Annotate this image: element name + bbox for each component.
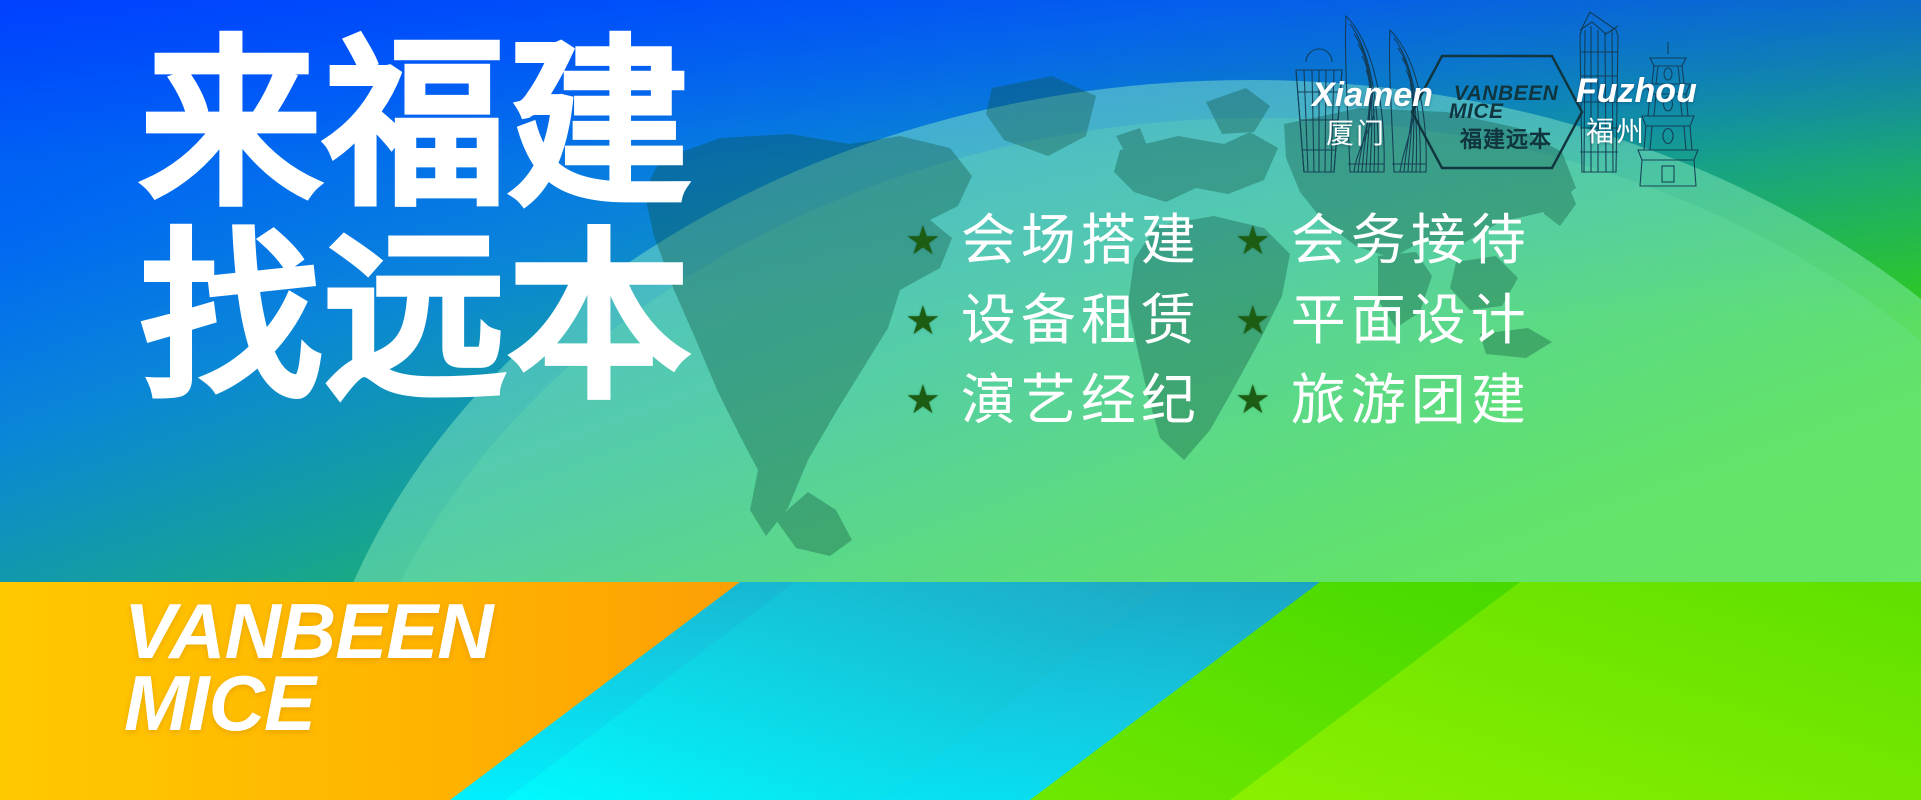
star-icon: ★ [905, 380, 941, 420]
service-label: 设备租赁 [961, 292, 1201, 350]
banner-bottom-bar: VANBEEN MICE [0, 582, 1921, 800]
star-icon: ★ [1235, 301, 1271, 341]
fuzhou-label-en: Fuzhou [1576, 72, 1697, 111]
page-title: 来福建 找远本 [140, 38, 692, 405]
headline-line-1: 来福建 [140, 38, 692, 213]
fuzhou-pagoda-icon [1638, 42, 1698, 186]
star-icon: ★ [1235, 380, 1271, 420]
service-item[interactable]: ★ 设备租赁 [905, 292, 1201, 350]
city-badge-cluster: Xiamen 厦门 Fuzhou 福州 VANBEEN MICE 福建远本 [1290, 0, 1760, 200]
service-label: 会场搭建 [961, 212, 1201, 270]
xiamen-label-en: Xiamen [1312, 76, 1433, 115]
star-icon: ★ [1235, 221, 1271, 261]
services-list: ★ 会场搭建 ★ 会务接待 ★ 设备租赁 ★ 平面设计 ★ 演艺经纪 ★ 旅游团… [905, 212, 1531, 429]
service-item[interactable]: ★ 会场搭建 [905, 212, 1201, 270]
service-item[interactable]: ★ 平面设计 [1235, 292, 1531, 350]
banner-top-section: 来福建 找远本 ★ 会场搭建 ★ 会务接待 ★ 设备租赁 ★ 平面设计 ★ [0, 0, 1921, 582]
xiamen-label-cn: 厦门 [1326, 112, 1386, 152]
hexagon-brand-line-2: MICE [1446, 100, 1566, 124]
brand-wordmark: VANBEEN MICE [124, 596, 493, 740]
wordmark-line-2: MICE [124, 668, 493, 740]
star-icon: ★ [905, 221, 941, 261]
wordmark-line-1: VANBEEN [124, 596, 493, 668]
hexagon-brand-cn: 福建远本 [1440, 122, 1572, 154]
fuzhou-label-cn: 福州 [1586, 110, 1646, 150]
service-label: 旅游团建 [1291, 372, 1531, 430]
headline-line-2: 找远本 [140, 231, 692, 406]
promo-banner: 来福建 找远本 ★ 会场搭建 ★ 会务接待 ★ 设备租赁 ★ 平面设计 ★ [0, 0, 1921, 800]
service-item[interactable]: ★ 会务接待 [1235, 212, 1531, 270]
service-label: 演艺经纪 [961, 372, 1201, 430]
star-icon: ★ [905, 301, 941, 341]
service-item[interactable]: ★ 演艺经纪 [905, 372, 1201, 430]
service-item[interactable]: ★ 旅游团建 [1235, 372, 1531, 430]
service-label: 会务接待 [1291, 212, 1531, 270]
service-label: 平面设计 [1291, 292, 1531, 350]
